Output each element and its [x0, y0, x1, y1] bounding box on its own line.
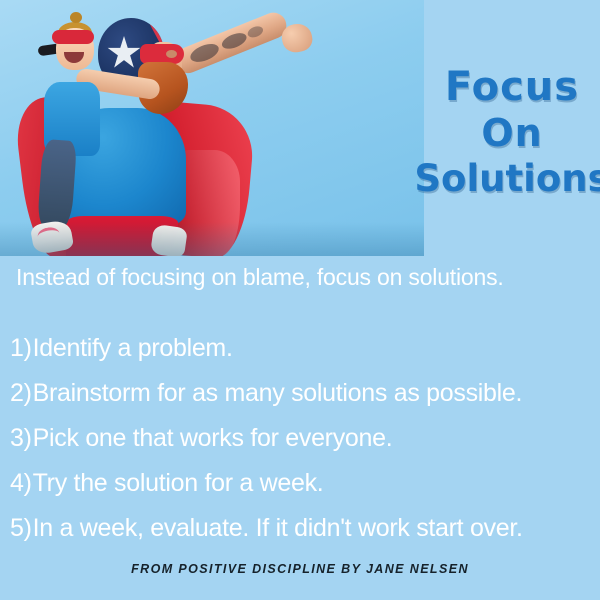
title-line-1: Focus: [445, 66, 579, 108]
tattoo-mark: [220, 30, 249, 52]
child-hair-bun: [70, 12, 82, 23]
step-text: Brainstorm for as many solutions as poss…: [33, 379, 523, 408]
title-line-2: On: [481, 114, 542, 154]
list-item: 2) Brainstorm for as many solutions as p…: [10, 379, 596, 424]
list-item: 3) Pick one that works for everyone.: [10, 424, 596, 469]
step-text: Identify a problem.: [33, 334, 233, 363]
step-number: 3): [10, 424, 32, 453]
source-credit: FROM POSITIVE DISCIPLINE BY JANE NELSEN: [0, 562, 600, 576]
poster-title: Focus On Solutions: [424, 0, 600, 256]
steps-list: 1) Identify a problem. 2) Brainstorm for…: [10, 334, 596, 559]
step-number: 1): [10, 334, 32, 363]
step-text: Try the solution for a week.: [33, 469, 324, 498]
step-number: 2): [10, 379, 32, 408]
child-red-mask-icon: [52, 30, 94, 44]
floor-shadow: [0, 222, 424, 256]
step-text: In a week, evaluate. If it didn't work s…: [33, 514, 523, 543]
step-number: 4): [10, 469, 32, 498]
mask-eye-hole: [166, 50, 177, 58]
photo-scene: [0, 0, 424, 256]
poster-canvas: Focus On Solutions Instead of focusing o…: [0, 0, 600, 600]
list-item: 4) Try the solution for a week.: [10, 469, 596, 514]
tattoo-mark: [188, 40, 221, 65]
title-line-3: Solutions: [414, 160, 600, 199]
tattoo-mark: [246, 24, 265, 39]
list-item: 1) Identify a problem.: [10, 334, 596, 379]
list-item: 5) In a week, evaluate. If it didn't wor…: [10, 514, 596, 559]
step-text: Pick one that works for everyone.: [33, 424, 393, 453]
star-icon: [107, 36, 141, 70]
red-eye-mask-icon: [140, 44, 184, 64]
hero-photo: [0, 0, 424, 256]
tattooed-arm: [171, 9, 290, 77]
step-number: 5): [10, 514, 32, 543]
lede-text: Instead of focusing on blame, focus on s…: [16, 264, 504, 291]
